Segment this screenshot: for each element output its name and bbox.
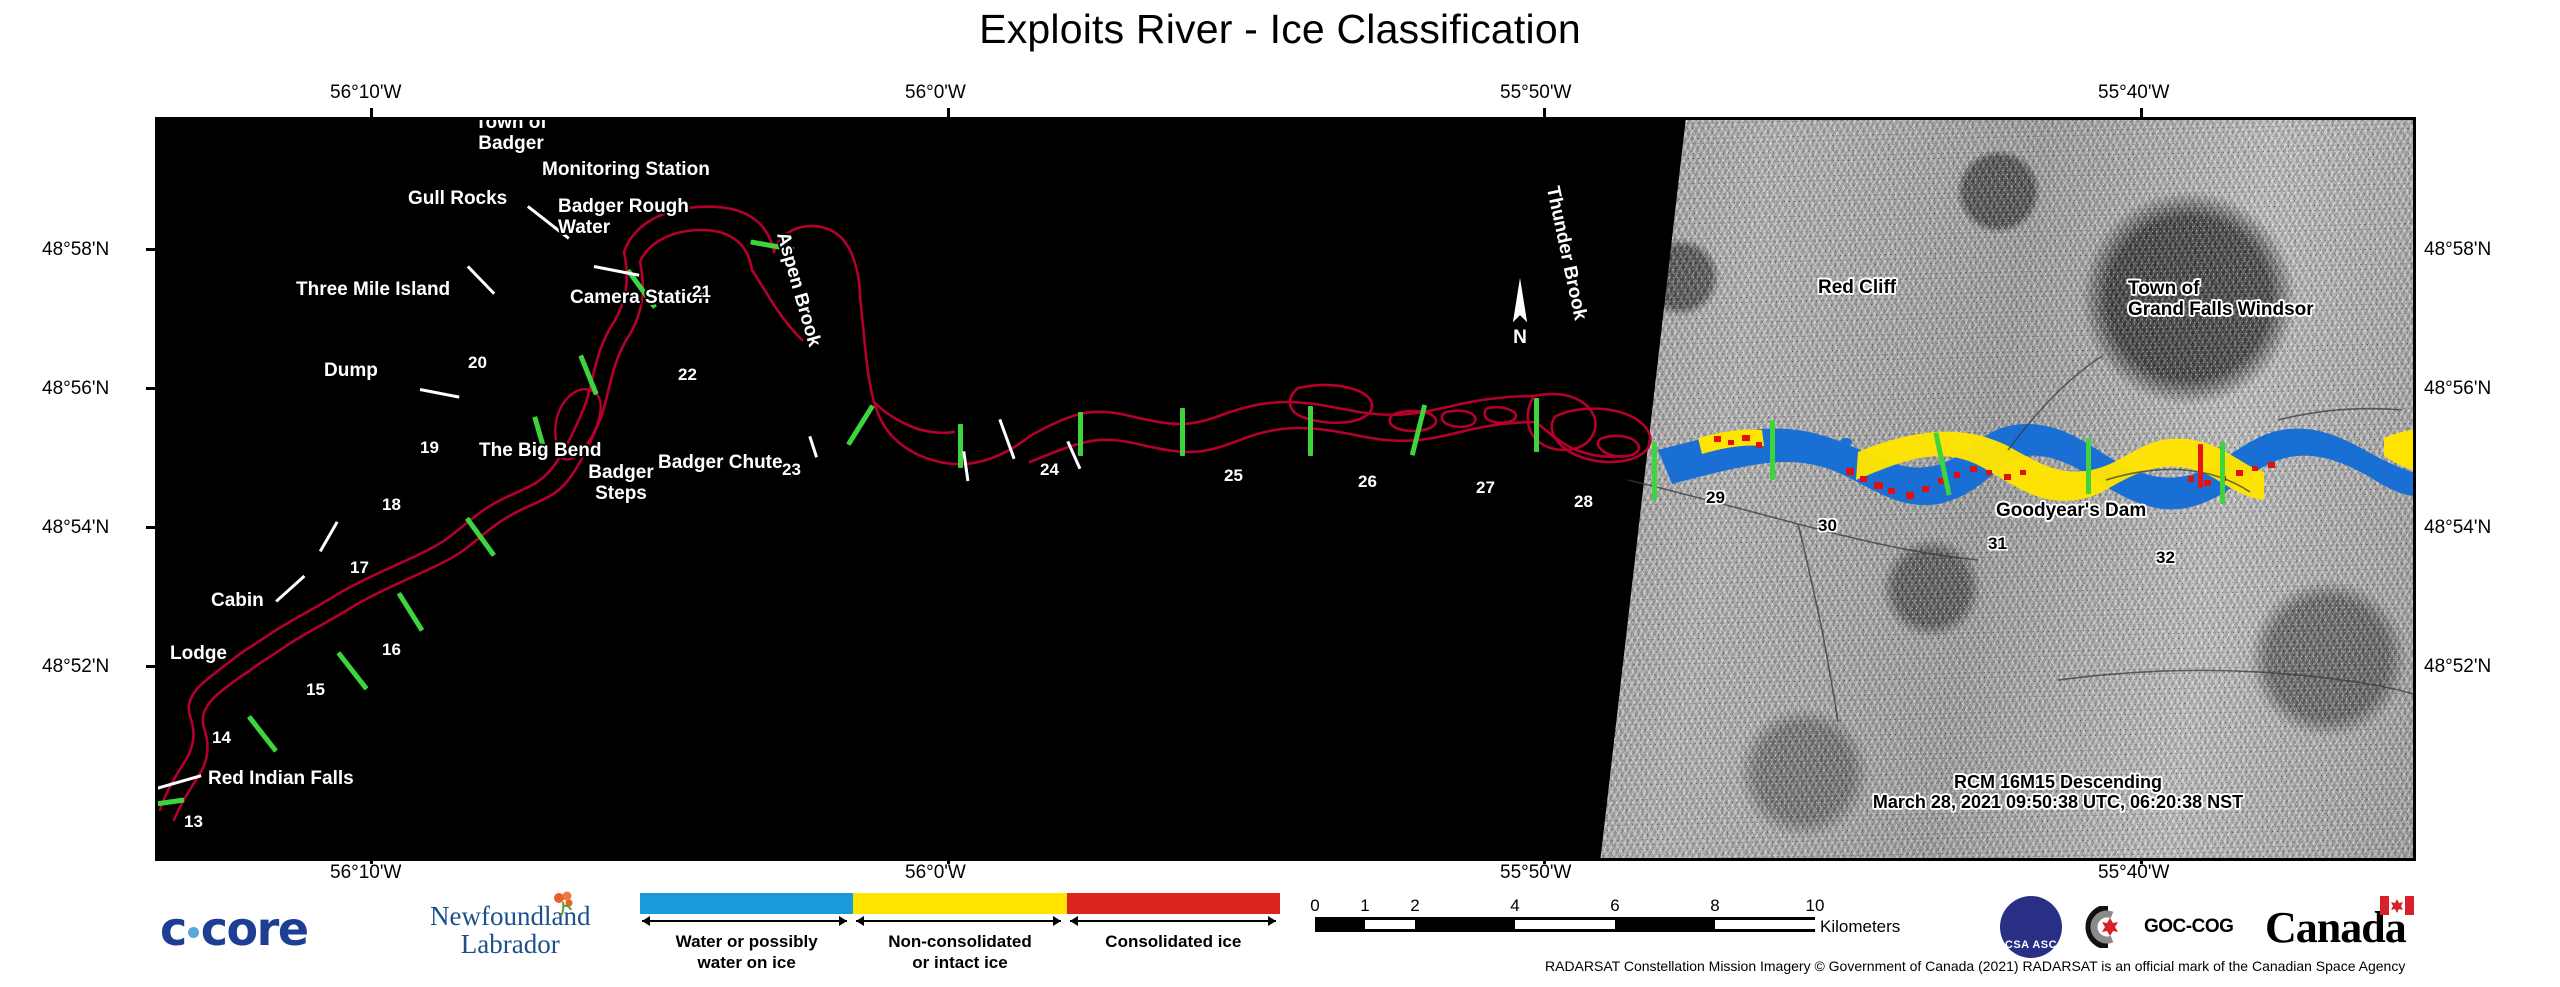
tick-latitude-left-4	[146, 665, 155, 668]
place-label-town-of-badger: Town of Badger	[446, 117, 576, 155]
goc-swoosh-icon	[2080, 906, 2138, 948]
segment-label-15: 15	[306, 680, 325, 700]
place-label-the-big-bend: The Big Bend	[479, 440, 601, 461]
river-outline-left-bank	[160, 207, 860, 811]
segment-label-32: 32	[2156, 548, 2175, 568]
scale-tick-8: 8	[1710, 896, 1719, 916]
cross-section-24	[1078, 412, 1083, 456]
axis-label-latitude-right-3: 48°54'N	[2424, 517, 2491, 539]
place-label-gull-rocks: Gull Rocks	[408, 188, 507, 209]
segment-label-20: 20	[468, 353, 487, 373]
tick-latitude-left-2	[146, 387, 155, 390]
axis-label-longitude-top-3: 55°50'W	[1500, 82, 1571, 104]
segment-label-23: 23	[782, 460, 801, 480]
footer: ccore Newfoundland Labrador Water or pos…	[0, 880, 2560, 987]
tick-latitude-left-1	[146, 248, 155, 251]
legend-arrow-water	[642, 920, 847, 922]
scale-bar-graphic	[1315, 917, 1815, 932]
scale-tick-1: 1	[1360, 896, 1369, 916]
legend-arrow-nonconsolidated	[856, 920, 1061, 922]
cross-section-29	[1652, 442, 1657, 500]
cross-section-23	[958, 424, 963, 468]
segment-label-14: 14	[212, 728, 231, 748]
segment-label-25: 25	[1224, 466, 1243, 486]
page-title: Exploits River - Ice Classification	[0, 6, 2560, 53]
place-label-monitoring-station: Monitoring Station	[542, 159, 710, 180]
north-arrow-label: N	[1507, 327, 1533, 349]
scale-bar-white-2	[1515, 920, 1615, 929]
legend-swatch-nonconsolidated	[853, 893, 1066, 914]
segment-label-27: 27	[1476, 478, 1495, 498]
legend-color-bar	[640, 893, 1280, 914]
cross-section-25	[1180, 408, 1185, 456]
sar-tributary-traces	[1628, 356, 2413, 722]
cross-section-marker-red	[2198, 444, 2203, 488]
newfoundland-labrador-logo: Newfoundland Labrador	[430, 902, 590, 959]
segment-label-29: 29	[1706, 488, 1725, 508]
place-label-three-mile-island: Three Mile Island	[296, 279, 450, 300]
river-vector-overlay	[158, 120, 2413, 858]
ccore-logo-dot	[188, 927, 199, 938]
pitcher-plant-flower-icon	[550, 890, 576, 916]
tick-longitude-top-3	[1543, 108, 1546, 117]
scale-bar-unit: Kilometers	[1820, 917, 1900, 937]
axis-label-latitude-right-2: 48°56'N	[2424, 378, 2491, 400]
cross-section-26	[1308, 406, 1313, 456]
segment-label-18: 18	[382, 495, 401, 515]
axis-label-longitude-top-4: 55°40'W	[2098, 82, 2169, 104]
tick-latitude-left-3	[146, 526, 155, 529]
scale-bar-white-3	[1715, 920, 1815, 929]
segment-label-31: 31	[1988, 534, 2007, 554]
axis-label-latitude-left-3: 48°54'N	[42, 517, 109, 539]
north-arrow: N	[1507, 272, 1533, 330]
scale-bar-ticks: 0 1 2 4 6 8 10	[1315, 896, 1815, 917]
nl-logo-line2: Labrador	[430, 930, 590, 958]
segment-label-26: 26	[1358, 472, 1377, 492]
cross-section-33	[2220, 442, 2225, 504]
place-label-lodge: Lodge	[170, 643, 227, 664]
legend-label-nonconsolidated: Non-consolidated or intact ice	[853, 931, 1066, 974]
axis-label-latitude-right-1: 48°58'N	[2424, 239, 2491, 261]
segment-label-24: 24	[1040, 460, 1059, 480]
place-label-cabin: Cabin	[211, 590, 264, 611]
csa-asc-logo: CSA ASC	[2000, 896, 2062, 958]
tick-longitude-top-4	[2140, 108, 2143, 117]
segment-label-16: 16	[382, 640, 401, 660]
segment-label-30: 30	[1818, 516, 1837, 536]
place-label-red-indian-falls: Red Indian Falls	[208, 768, 354, 789]
copyright-notice: RADARSAT Constellation Mission Imagery ©…	[1545, 958, 2405, 974]
tick-longitude-top-1	[370, 108, 373, 117]
place-label-badger-chute: Badger Chute	[658, 452, 783, 473]
place-label-dump: Dump	[324, 360, 378, 381]
scale-tick-10: 10	[1806, 896, 1825, 916]
segment-label-21: 21	[692, 282, 711, 302]
scale-tick-6: 6	[1610, 896, 1619, 916]
segment-label-13: 13	[184, 812, 203, 832]
place-label-goodyears-dam: Goodyear's Dam	[1996, 500, 2146, 521]
north-arrow-icon	[1507, 272, 1533, 330]
axis-label-latitude-left-1: 48°58'N	[42, 239, 109, 261]
ccore-logo: ccore	[160, 902, 308, 956]
cross-section-32	[2086, 438, 2091, 494]
scale-tick-2: 2	[1410, 896, 1419, 916]
goc-cog-label: GOC-COG	[2144, 916, 2233, 938]
segment-label-19: 19	[420, 438, 439, 458]
segment-label-17: 17	[350, 558, 369, 578]
scale-tick-0: 0	[1310, 896, 1319, 916]
scale-tick-4: 4	[1510, 896, 1519, 916]
place-label-camera-station: Camera Station	[570, 287, 709, 308]
map-viewport[interactable]: Town of Badger Monitoring Station Gull R…	[155, 117, 2416, 861]
legend-swatch-consolidated	[1067, 893, 1280, 914]
segment-label-28: 28	[1574, 492, 1593, 512]
axis-label-latitude-left-2: 48°56'N	[42, 378, 109, 400]
cross-section-28	[1534, 398, 1539, 452]
axis-label-latitude-left-4: 48°52'N	[42, 656, 109, 678]
legend-arrow-consolidated	[1070, 920, 1276, 922]
axis-label-longitude-top-2: 56°0'W	[905, 82, 966, 104]
legend-label-consolidated: Consolidated ice	[1067, 931, 1280, 974]
axis-label-latitude-right-4: 48°52'N	[2424, 656, 2491, 678]
legend-label-water: Water or possibly water on ice	[640, 931, 853, 974]
segment-label-22: 22	[678, 365, 697, 385]
scale-bar-white-1	[1365, 920, 1415, 929]
legend-labels: Water or possibly water on ice Non-conso…	[640, 931, 1280, 974]
legend-swatch-water	[640, 893, 853, 914]
legend-range-arrows	[640, 915, 1280, 929]
river-east-reach	[1030, 385, 1650, 462]
cross-section-30	[1770, 420, 1775, 480]
place-label-red-cliff: Red Cliff	[1818, 277, 1896, 298]
government-of-canada-logo: GOC-COG	[2080, 906, 2233, 948]
place-label-town-of-grand-falls-windsor: Town of Grand Falls Windsor	[2128, 278, 2314, 321]
scale-bar: 0 1 2 4 6 8 10 Kilometers	[1315, 896, 1815, 932]
sar-image-caption: RCM 16M15 Descending March 28, 2021 09:5…	[1798, 772, 2318, 812]
place-label-badger-steps: Badger Steps	[576, 462, 666, 505]
tick-longitude-top-2	[947, 108, 950, 117]
axis-label-longitude-top-1: 56°10'W	[330, 82, 401, 104]
place-label-badger-rough-water: Badger Rough Water	[558, 196, 689, 239]
ice-class-legend: Water or possibly water on ice Non-conso…	[640, 893, 1280, 974]
canada-wordmark: Canada	[2265, 902, 2406, 953]
canada-flag-icon	[2380, 896, 2414, 915]
